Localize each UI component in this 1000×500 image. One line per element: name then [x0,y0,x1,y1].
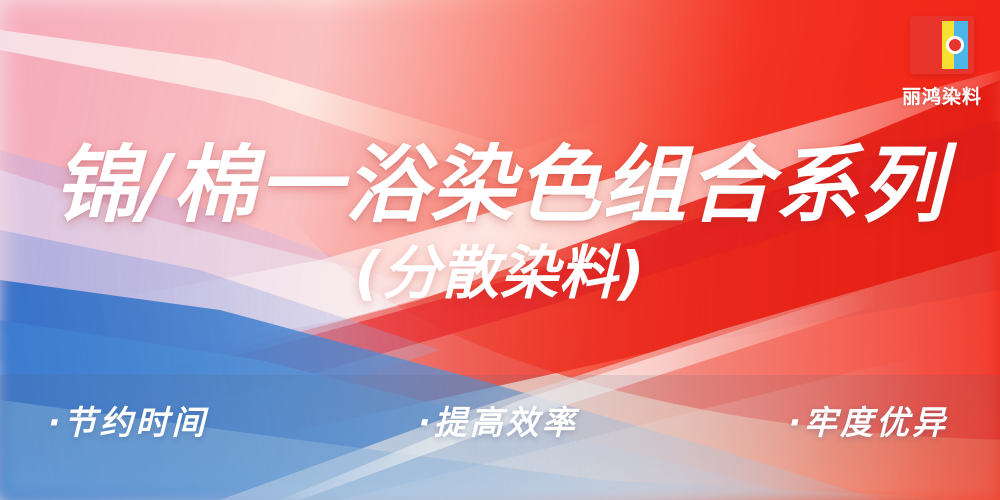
brand-logo: 丽鸿染料 [902,16,982,109]
page-title: 锦/棉一浴染色组合系列 [0,143,1000,227]
feature-item-save-time: ·节约时间 [48,396,208,444]
brand-square-logo-icon [910,16,974,74]
feature-item-fastness: ·牢度优异 [788,396,948,444]
feature-list: ·节约时间 ·提高效率 ·牢度优异 [0,396,1000,444]
page-subtitle: (分散染料) [0,244,1000,302]
feature-item-efficiency: ·提高效率 [418,396,578,444]
promo-banner: 丽鸿染料 锦/棉一浴染色组合系列 (分散染料) ·节约时间 ·提高效率 ·牢度优… [0,0,1000,500]
logo-circle-icon [946,36,964,54]
brand-name: 丽鸿染料 [902,82,982,109]
